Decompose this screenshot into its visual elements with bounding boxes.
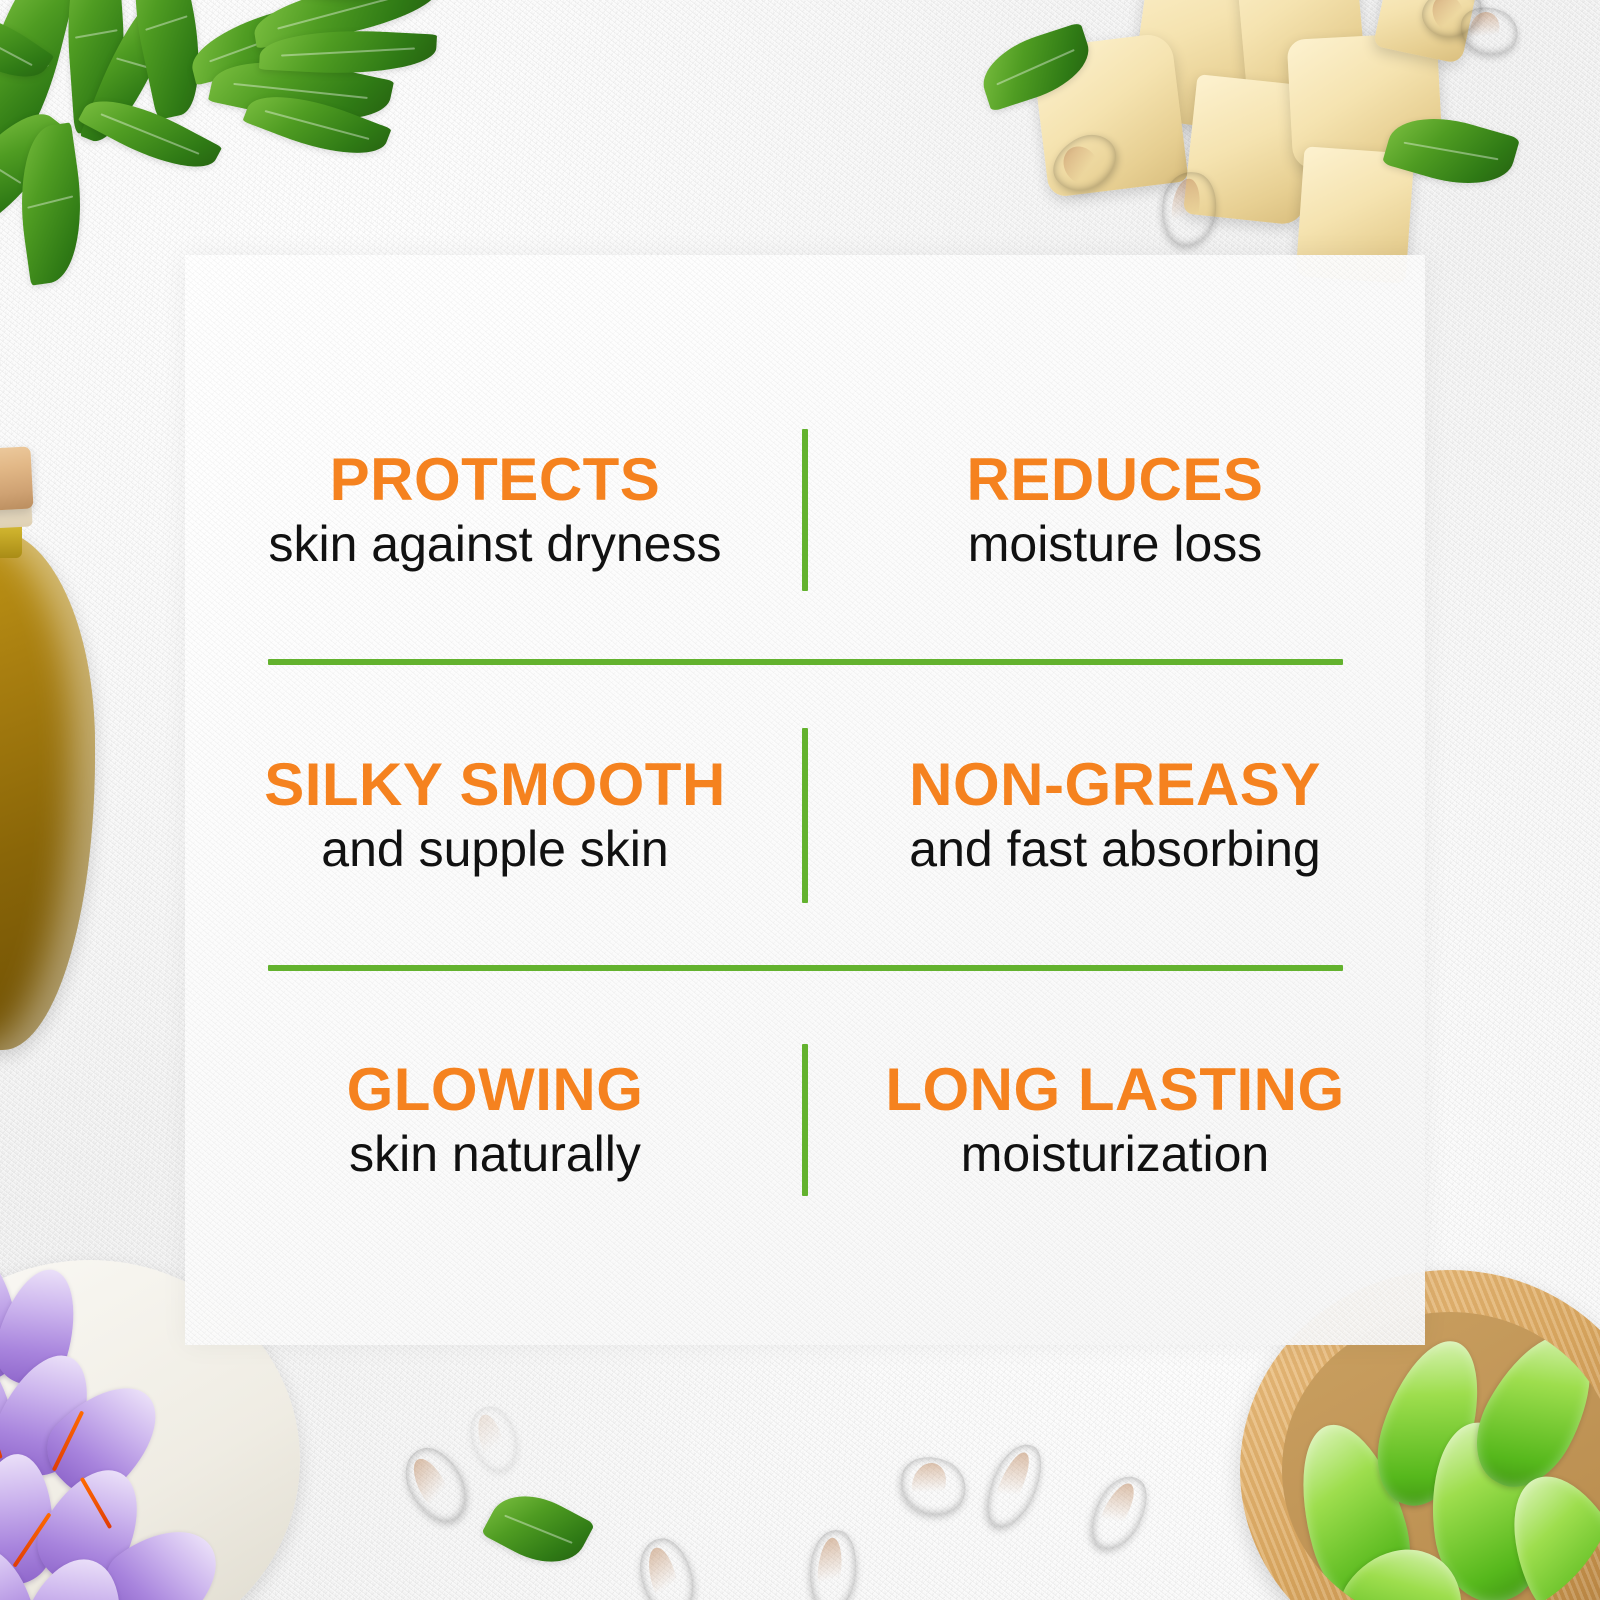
- benefit-subline: moisture loss: [823, 518, 1407, 571]
- benefit-headline: GLOWING: [203, 1059, 787, 1120]
- benefits-card: PROTECTS skin against dryness REDUCES mo…: [185, 255, 1425, 1345]
- benefit-subline: and fast absorbing: [823, 823, 1407, 876]
- scattered-cocoa-beans-decoration: [380, 1410, 1140, 1600]
- benefit-row-3: GLOWING skin naturally LONG LASTING mois…: [185, 971, 1425, 1270]
- infographic-stage: PROTECTS skin against dryness REDUCES mo…: [0, 0, 1600, 1600]
- benefit-reduces: REDUCES moisture loss: [805, 449, 1425, 571]
- benefit-glowing: GLOWING skin naturally: [185, 1059, 805, 1181]
- benefit-silky-smooth: SILKY SMOOTH and supple skin: [185, 754, 805, 876]
- benefit-headline: NON-GREASY: [823, 754, 1407, 815]
- oil-bottle-decoration: [0, 440, 120, 1060]
- benefit-long-lasting: LONG LASTING moisturization: [805, 1059, 1425, 1181]
- benefit-headline: REDUCES: [823, 449, 1407, 510]
- cocoa-butter-decoration: [990, 0, 1600, 280]
- benefit-row-2: SILKY SMOOTH and supple skin NON-GREASY …: [185, 665, 1425, 964]
- benefit-row-1: PROTECTS skin against dryness REDUCES mo…: [185, 360, 1425, 659]
- benefit-subline: skin naturally: [203, 1128, 787, 1181]
- benefit-subline: and supple skin: [203, 823, 787, 876]
- benefit-protects: PROTECTS skin against dryness: [185, 449, 805, 571]
- vertical-divider-row-3: [802, 1044, 808, 1196]
- vertical-divider-row-2: [802, 728, 808, 903]
- benefit-headline: LONG LASTING: [823, 1059, 1407, 1120]
- benefit-non-greasy: NON-GREASY and fast absorbing: [805, 754, 1425, 876]
- benefit-headline: SILKY SMOOTH: [203, 754, 787, 815]
- vertical-divider-row-1: [802, 429, 808, 591]
- benefit-subline: moisturization: [823, 1128, 1407, 1181]
- benefit-headline: PROTECTS: [203, 449, 787, 510]
- green-tea-leaves-decoration: [0, 0, 480, 270]
- benefit-subline: skin against dryness: [203, 518, 787, 571]
